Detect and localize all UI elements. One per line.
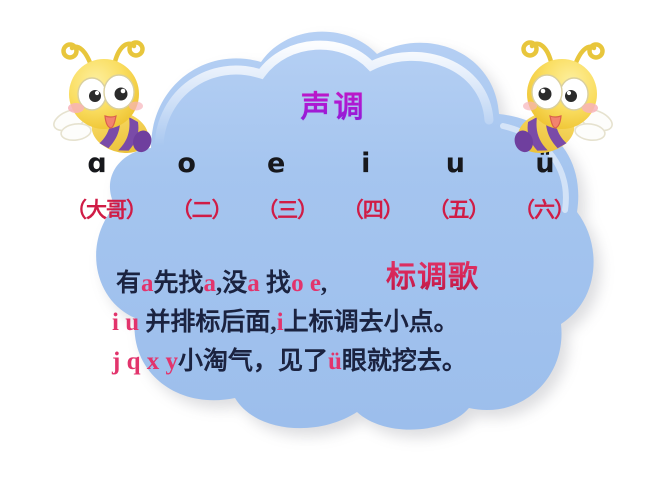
verse-line-1: 有a先找a,没a 找o e, [112, 264, 552, 303]
chinese-segment: ,没 [216, 270, 247, 297]
vowel-u: u [444, 148, 466, 179]
cartoon-bee-left [48, 24, 168, 164]
pinyin-segment: a [141, 270, 154, 297]
pinyin-segment: a [247, 270, 260, 297]
cartoon-bee-right [498, 24, 618, 164]
song-verse: 有a先找a,没a 找o e, i u 并排标后面,i上标调去小点。 j q x … [112, 264, 552, 381]
chinese-segment: , [321, 270, 327, 297]
vowel-o: o [176, 148, 198, 179]
order-row: （大哥） （二） （三） （四） （五） （六） [66, 194, 574, 224]
pinyin-segment: i [277, 309, 284, 336]
chinese-segment: 上标调去小点。 [284, 309, 459, 336]
pinyin-segment: ü [328, 348, 342, 375]
pinyin-segment: j q x y [112, 348, 178, 375]
chinese-segment: 找 [260, 270, 291, 297]
chinese-segment: 有 [116, 270, 141, 297]
chinese-segment: 小淘气，见了 [178, 348, 328, 375]
pinyin-segment: a [204, 270, 217, 297]
order-item-2: （二） [172, 194, 232, 224]
chinese-segment: 眼就挖去。 [342, 348, 467, 375]
verse-line-2: i u 并排标后面,i上标调去小点。 [112, 303, 552, 342]
order-item-6: （六） [514, 194, 574, 224]
chinese-segment: 先找 [154, 270, 204, 297]
vowel-i: i [355, 148, 377, 179]
order-item-5: （五） [428, 194, 488, 224]
order-item-1: （大哥） [66, 194, 146, 224]
slide-canvas: 声调 ɑ o e i u ü （大哥） （二） （三） （四） （五） （六） … [0, 0, 667, 500]
pinyin-segment: o e [291, 270, 321, 297]
order-item-4: （四） [343, 194, 403, 224]
vowel-e: e [265, 148, 287, 179]
order-item-3: （三） [257, 194, 317, 224]
pinyin-segment: i u [112, 309, 139, 336]
verse-line-3: j q x y小淘气，见了ü眼就挖去。 [112, 342, 552, 381]
chinese-segment: 并排标后面, [139, 309, 277, 336]
